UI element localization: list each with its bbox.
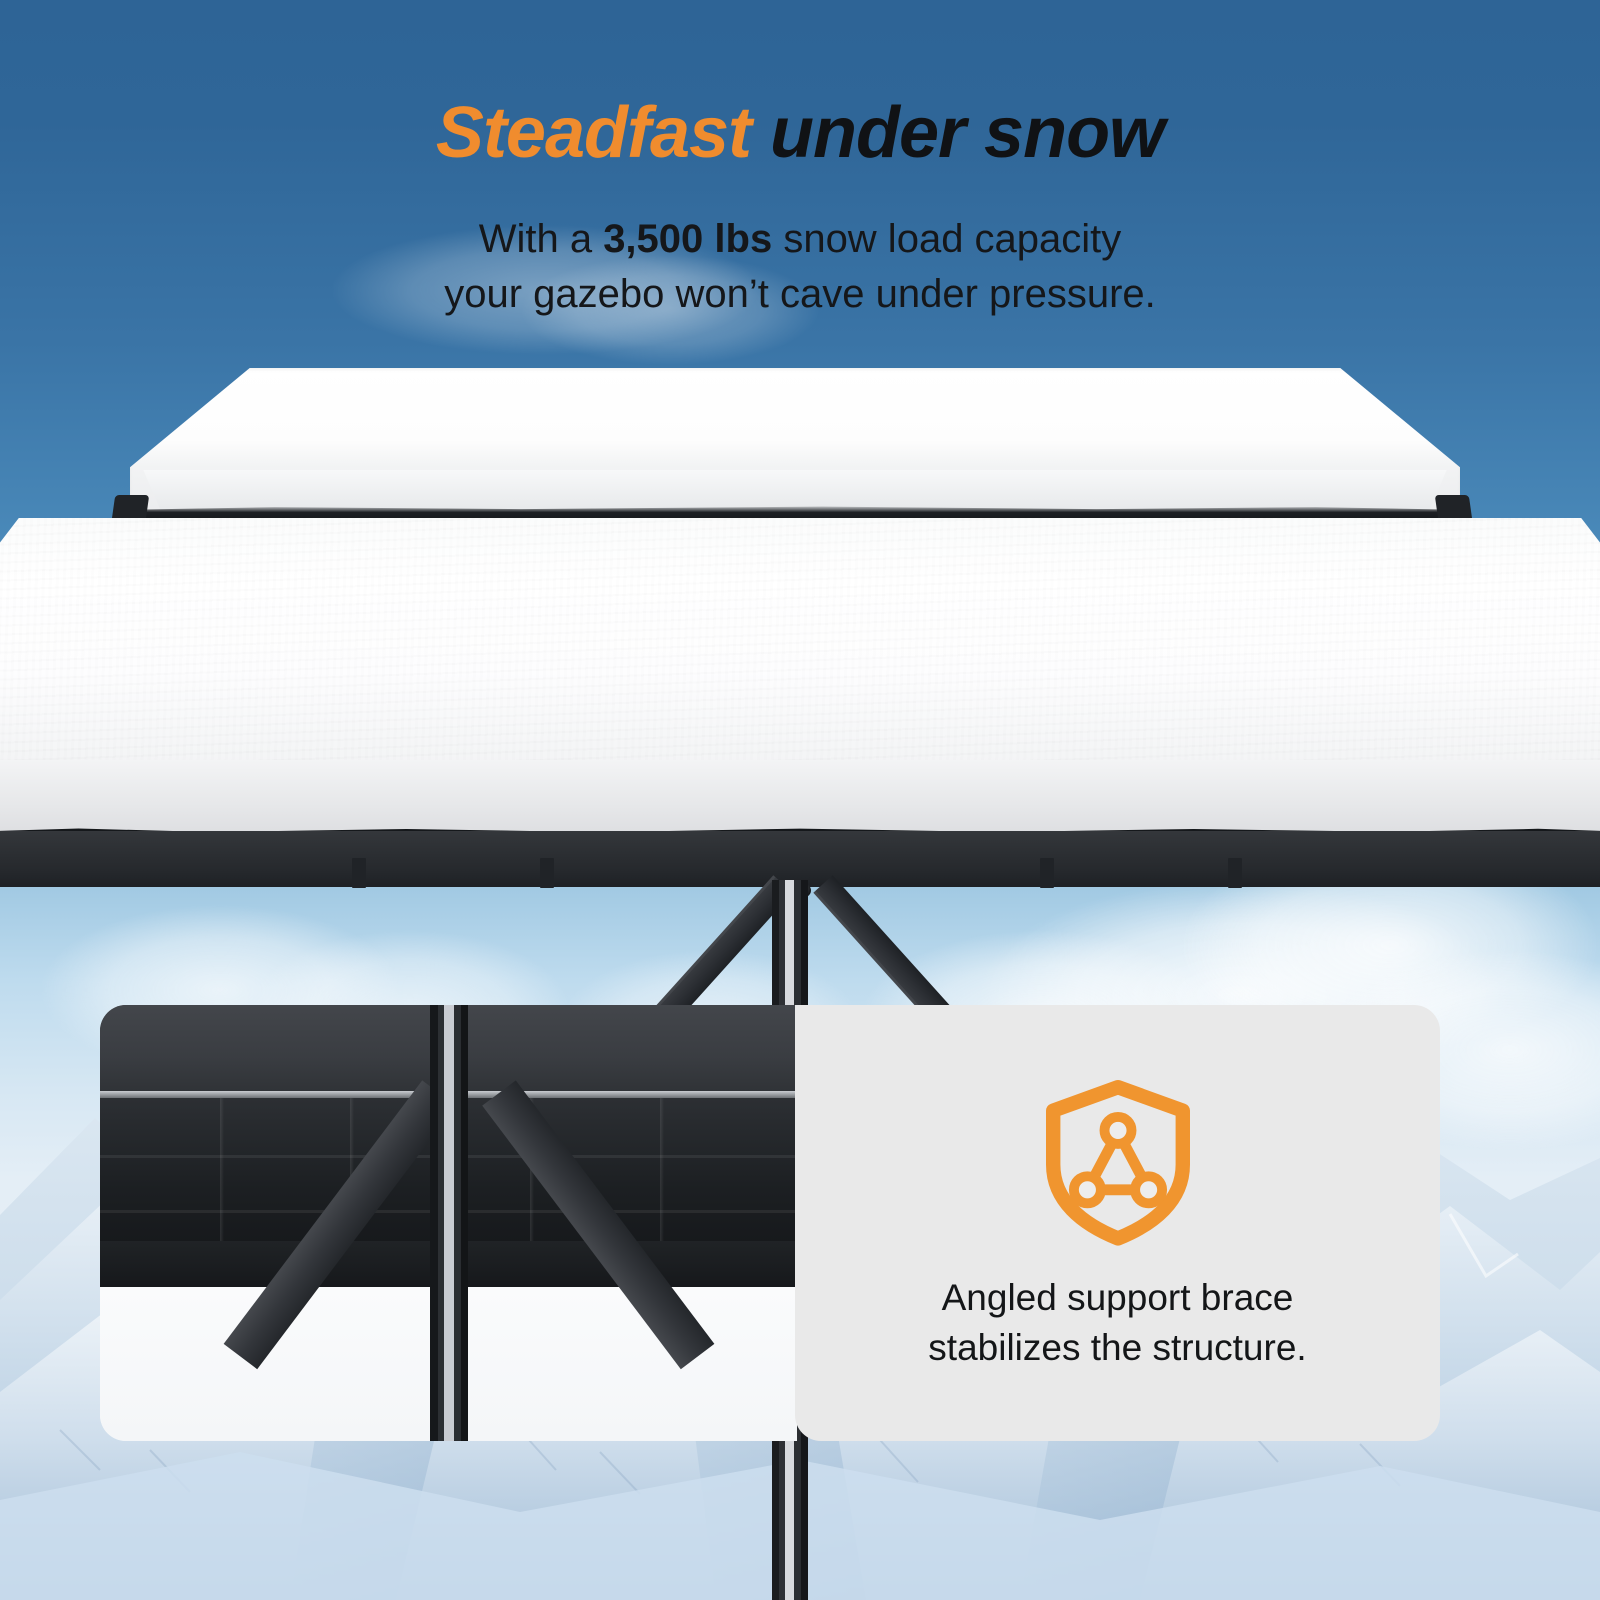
feature-caption-line-2: stabilizes the structure. xyxy=(928,1323,1306,1373)
subheading: With a 3,500 lbs snow load capacity your… xyxy=(0,212,1600,322)
product-feature-graphic: Steadfast under snow With a 3,500 lbs sn… xyxy=(0,0,1600,1600)
snow-load-value: 3,500 lbs xyxy=(603,217,772,261)
headline-accent: Steadfast xyxy=(436,93,751,173)
headline: Steadfast under snow xyxy=(0,96,1600,172)
shield-triangle-icon xyxy=(1028,1071,1208,1251)
subheading-line-1: With a 3,500 lbs snow load capacity xyxy=(0,212,1600,267)
closeup-center-post xyxy=(430,1005,468,1441)
subheading-line-2: your gazebo won’t cave under pressure. xyxy=(0,267,1600,322)
beam-bracket xyxy=(1040,858,1054,888)
feature-info-card: Angled support brace stabilizes the stru… xyxy=(795,1005,1440,1441)
angled-brace-closeup-photo xyxy=(100,1005,797,1441)
lower-roof-snow-edge xyxy=(0,760,1600,838)
feature-caption: Angled support brace stabilizes the stru… xyxy=(928,1273,1306,1372)
subheading-prefix: With a xyxy=(479,217,603,261)
roof-header-beam xyxy=(0,831,1600,887)
beam-bracket xyxy=(540,858,554,888)
beam-bracket xyxy=(352,858,366,888)
beam-bracket xyxy=(1228,858,1242,888)
headline-rest: under snow xyxy=(770,93,1164,173)
feature-caption-line-1: Angled support brace xyxy=(928,1273,1306,1323)
subheading-suffix: snow load capacity xyxy=(772,217,1121,261)
